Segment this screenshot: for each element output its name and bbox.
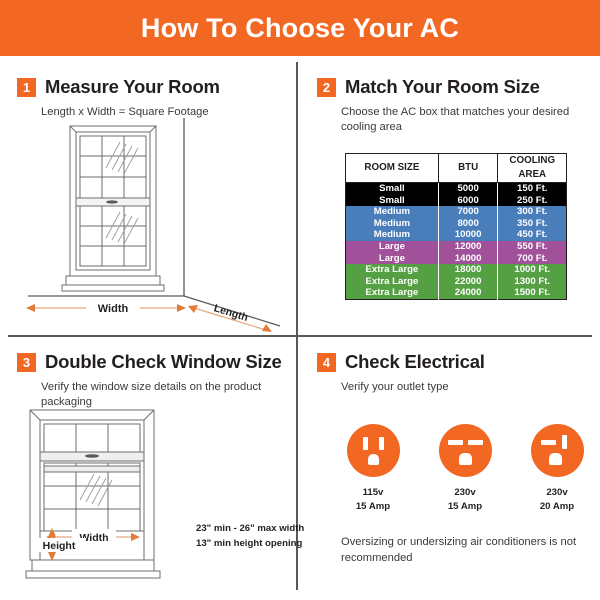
table-header-row: ROOM SIZE BTU COOLING AREA xyxy=(346,154,567,183)
cell-cooling-area: 350 Ft. xyxy=(498,218,567,230)
slot-ground xyxy=(549,453,562,465)
window-height-label: Height xyxy=(43,540,76,552)
slot-left xyxy=(448,440,463,445)
width-label: Width xyxy=(98,303,129,315)
window-dimension-notes: 23" min - 26" max width 13" min height o… xyxy=(196,522,306,552)
table-row: Small5000150 Ft. xyxy=(346,183,567,195)
step-1-title: Measure Your Room xyxy=(45,76,220,98)
length-label: Length xyxy=(212,302,249,324)
outlet-voltage: 230v xyxy=(448,486,482,500)
slot-ground xyxy=(368,454,379,465)
outlet-amperage: 20 Amp xyxy=(540,500,574,514)
outlet-amperage: 15 Amp xyxy=(356,500,390,514)
step-4-subtitle: Verify your outlet type xyxy=(298,380,600,395)
outlet-230v-20amp-icon xyxy=(531,424,584,477)
outlet-230v-15amp-label: 230v 15 Amp xyxy=(448,486,482,513)
slot-left xyxy=(363,437,368,450)
step-3-number-badge: 3 xyxy=(17,353,36,372)
outlet-voltage: 230v xyxy=(540,486,574,500)
outlet-voltage: 115v xyxy=(356,486,390,500)
table-row: Large14000700 Ft. xyxy=(346,253,567,265)
cell-btu: 7000 xyxy=(438,206,498,218)
cell-room-size: Extra Large xyxy=(346,276,439,288)
step-4-title: Check Electrical xyxy=(345,351,485,373)
table-row: Medium8000350 Ft. xyxy=(346,218,567,230)
slot-right xyxy=(468,440,483,445)
outlet-230v-20amp-label: 230v 20 Amp xyxy=(540,486,574,513)
step-3-title: Double Check Window Size xyxy=(45,351,282,373)
step-4-number-badge: 4 xyxy=(317,353,336,372)
cell-btu: 18000 xyxy=(438,264,498,276)
step-4-header: 4 Check Electrical xyxy=(298,337,600,373)
outlet-115v-15amp-label: 115v 15 Amp xyxy=(356,486,390,513)
cell-btu: 10000 xyxy=(438,229,498,241)
column-header-room-size: ROOM SIZE xyxy=(346,154,439,183)
cell-room-size: Extra Large xyxy=(346,287,439,299)
cell-btu: 22000 xyxy=(438,276,498,288)
cell-room-size: Large xyxy=(346,241,439,253)
column-header-cooling-area: COOLING AREA xyxy=(498,154,567,183)
step-2-number-badge: 2 xyxy=(317,78,336,97)
room-measurement-diagram: Width Length xyxy=(8,118,288,333)
table-row: Small6000250 Ft. xyxy=(346,195,567,207)
cell-cooling-area: 250 Ft. xyxy=(498,195,567,207)
table-row: Extra Large180001000 Ft. xyxy=(346,264,567,276)
step-1-number-badge: 1 xyxy=(17,78,36,97)
column-header-btu: BTU xyxy=(438,154,498,183)
slot-left-horizontal xyxy=(541,440,556,445)
slot-ground xyxy=(459,453,472,465)
outlet-option-230v-15amp: 230v 15 Amp xyxy=(432,424,498,513)
table-row: Large12000550 Ft. xyxy=(346,241,567,253)
cell-room-size: Extra Large xyxy=(346,264,439,276)
btu-table-body: Small5000150 Ft.Small6000250 Ft.Medium70… xyxy=(346,183,567,300)
infographic-page: How To Choose Your AC 1 Measure Your Roo… xyxy=(0,0,600,600)
step-2-title: Match Your Room Size xyxy=(345,76,540,98)
outlet-amperage: 15 Amp xyxy=(448,500,482,514)
outlet-115v-15amp-icon xyxy=(347,424,400,477)
cell-cooling-area: 1300 Ft. xyxy=(498,276,567,288)
dimension-note-width: 23" min - 26" max width xyxy=(196,522,306,537)
cell-btu: 24000 xyxy=(438,287,498,299)
outlet-option-115v-15amp: 115v 15 Amp xyxy=(340,424,406,513)
cell-cooling-area: 150 Ft. xyxy=(498,183,567,195)
cell-room-size: Small xyxy=(346,183,439,195)
cell-cooling-area: 700 Ft. xyxy=(498,253,567,265)
cell-btu: 6000 xyxy=(438,195,498,207)
oversizing-note: Oversizing or undersizing air conditione… xyxy=(341,535,591,567)
cell-cooling-area: 1500 Ft. xyxy=(498,287,567,299)
btu-table-wrapper: ROOM SIZE BTU COOLING AREA Small5000150 … xyxy=(345,153,567,300)
table-row: Medium7000300 Ft. xyxy=(346,206,567,218)
table-row: Extra Large220001300 Ft. xyxy=(346,276,567,288)
outlet-230v-15amp-icon xyxy=(439,424,492,477)
cell-btu: 12000 xyxy=(438,241,498,253)
page-title: How To Choose Your AC xyxy=(141,13,459,44)
cell-cooling-area: 550 Ft. xyxy=(498,241,567,253)
table-row: Medium10000450 Ft. xyxy=(346,229,567,241)
outlet-type-list: 115v 15 Amp 230v 15 Amp 230v xyxy=(340,424,590,513)
window-illustration-bottom xyxy=(26,410,160,578)
cell-room-size: Medium xyxy=(346,218,439,230)
window-size-diagram: Width Height xyxy=(22,404,192,594)
cell-btu: 8000 xyxy=(438,218,498,230)
cell-cooling-area: 450 Ft. xyxy=(498,229,567,241)
slot-right xyxy=(379,437,384,450)
step-1-header: 1 Measure Your Room xyxy=(0,62,296,98)
cell-btu: 5000 xyxy=(438,183,498,195)
step-2-subtitle: Choose the AC box that matches your desi… xyxy=(298,105,600,136)
window-illustration-top xyxy=(62,126,164,291)
step-2-header: 2 Match Your Room Size xyxy=(298,62,600,98)
table-row: Extra Large240001500 Ft. xyxy=(346,287,567,299)
page-header: How To Choose Your AC xyxy=(0,0,600,56)
cell-room-size: Medium xyxy=(346,229,439,241)
cell-room-size: Medium xyxy=(346,206,439,218)
cell-cooling-area: 300 Ft. xyxy=(498,206,567,218)
cell-room-size: Large xyxy=(346,253,439,265)
cell-cooling-area: 1000 Ft. xyxy=(498,264,567,276)
step-3-header: 3 Double Check Window Size xyxy=(0,337,296,373)
cell-room-size: Small xyxy=(346,195,439,207)
slot-right-vertical xyxy=(562,435,567,449)
dimension-note-height: 13" min height opening xyxy=(196,537,306,552)
cell-btu: 14000 xyxy=(438,253,498,265)
outlet-option-230v-20amp: 230v 20 Amp xyxy=(524,424,590,513)
btu-sizing-table: ROOM SIZE BTU COOLING AREA Small5000150 … xyxy=(345,153,567,300)
